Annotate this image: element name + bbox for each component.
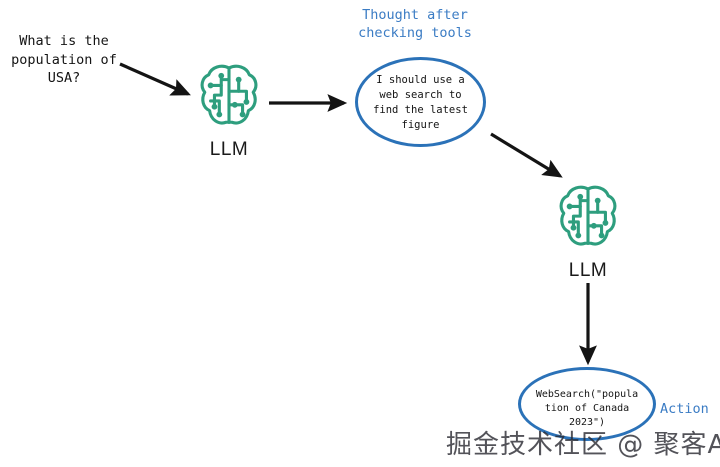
brain-circuit-icon — [557, 183, 619, 257]
llm-first-label: LLM — [198, 139, 260, 161]
watermark: 掘金技术社区 @ 聚客AI — [446, 424, 720, 461]
action-caption: Action — [660, 400, 720, 418]
thought-bubble-text: I should use a web search to find the la… — [355, 73, 486, 133]
thought-caption: Thought after checking tools — [340, 6, 490, 42]
arrow-question-to-llm — [120, 64, 188, 94]
arrow-thought-to-llm2 — [491, 134, 560, 176]
llm-second-label: LLM — [557, 260, 619, 282]
brain-circuit-icon — [198, 62, 260, 136]
diagram-canvas: What is the population of USA? — [0, 0, 720, 467]
question-text: What is the population of USA? — [0, 32, 128, 88]
